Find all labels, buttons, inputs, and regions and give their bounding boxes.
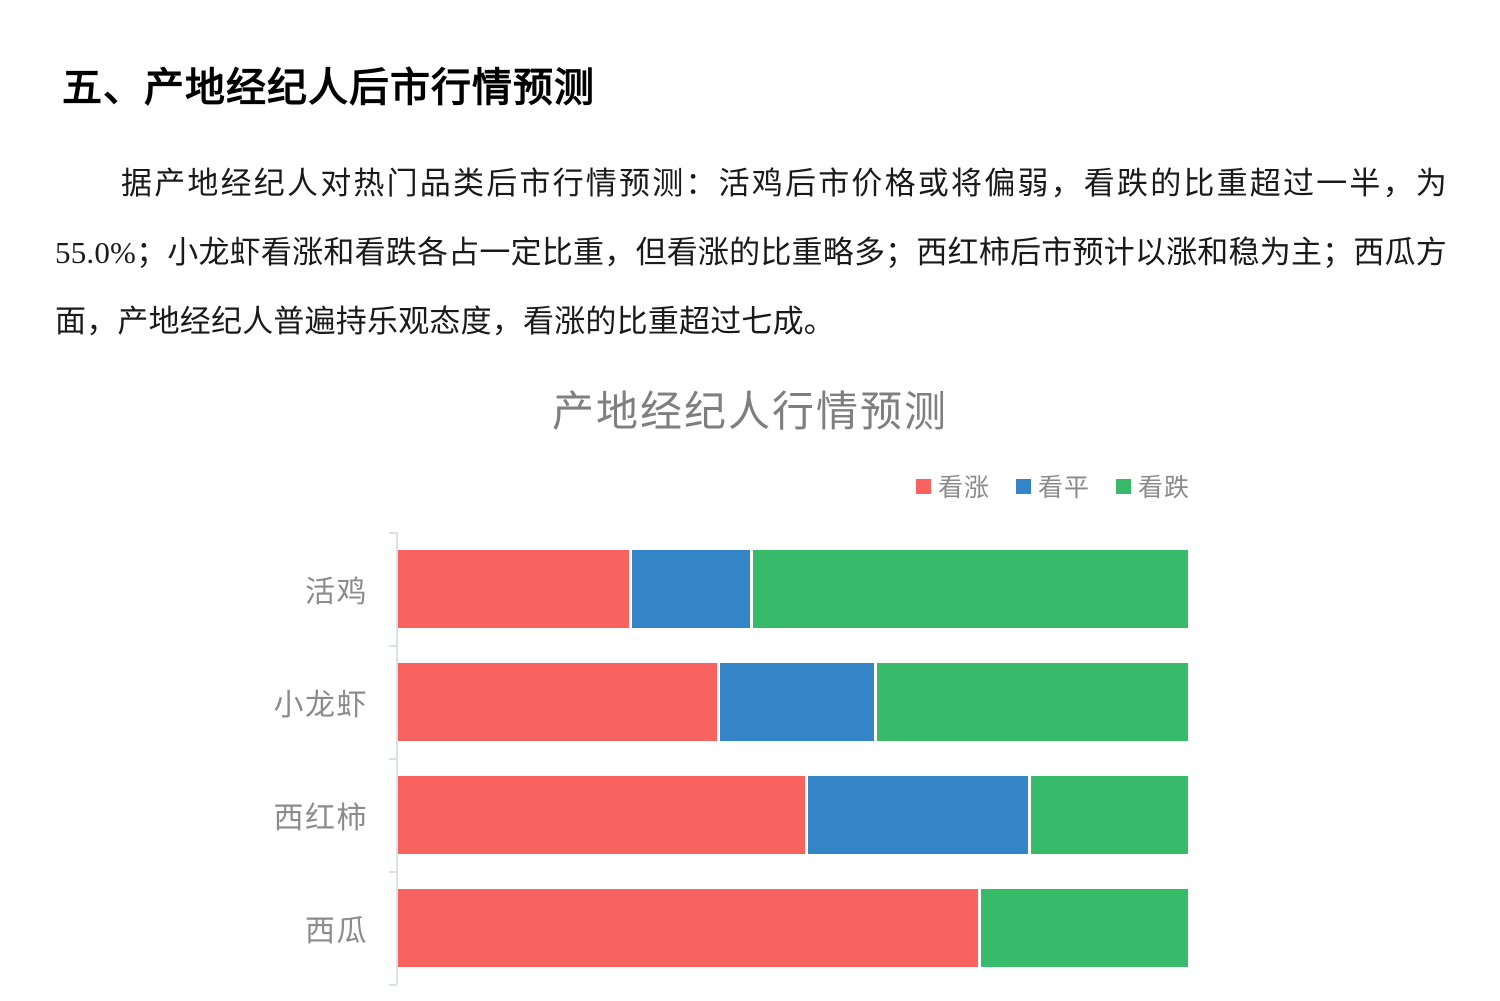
bar-segment-flat[interactable] [632, 550, 754, 628]
legend-swatch-bearish [1116, 479, 1131, 494]
bar-row: 西红柿 [398, 776, 1188, 854]
legend-item-flat[interactable]: 看平 [1016, 468, 1090, 504]
axis-tick [389, 984, 397, 986]
bar-segment-bearish[interactable] [753, 550, 1188, 628]
chart-title: 产地经纪人行情预测 [0, 378, 1500, 439]
legend-swatch-bullish [916, 479, 931, 494]
document-page: 五、产地经纪人后市行情预测 据产地经纪人对热门品类后市行情预测：活鸡后市价格或将… [0, 0, 1500, 1001]
bar-segment-bullish[interactable] [398, 550, 632, 628]
axis-tick [389, 871, 397, 873]
category-label: 西瓜 [305, 906, 368, 950]
legend-label-flat: 看平 [1038, 468, 1090, 504]
category-label: 西红柿 [274, 793, 369, 837]
bar-segment-flat[interactable] [808, 776, 1031, 854]
category-label: 小龙虾 [274, 680, 369, 724]
legend-label-bearish: 看跌 [1138, 468, 1190, 504]
legend-swatch-flat [1016, 479, 1031, 494]
bar-row: 小龙虾 [398, 663, 1188, 741]
bar-segment-bullish[interactable] [398, 889, 981, 967]
bar-segment-flat[interactable] [720, 663, 876, 741]
plot-area: 活鸡小龙虾西红柿西瓜 [396, 532, 1188, 984]
axis-tick [389, 532, 397, 534]
legend-item-bullish[interactable]: 看涨 [916, 468, 990, 504]
axis-tick [389, 758, 397, 760]
legend-item-bearish[interactable]: 看跌 [1116, 468, 1190, 504]
bar-row: 活鸡 [398, 550, 1188, 628]
body-paragraph: 据产地经纪人对热门品类后市行情预测：活鸡后市价格或将偏弱，看跌的比重超过一半，为… [55, 149, 1447, 356]
bar-segment-bearish[interactable] [877, 663, 1188, 741]
bar-row: 西瓜 [398, 889, 1188, 967]
bar-segment-bearish[interactable] [1031, 776, 1188, 854]
stacked-bar-chart: 产地经纪人行情预测 看涨 看平 看跌 活鸡小龙虾西红柿西瓜 [0, 360, 1500, 1001]
axis-tick [389, 645, 397, 647]
legend-label-bullish: 看涨 [938, 468, 990, 504]
page-title: 五、产地经纪人后市行情预测 [62, 55, 595, 113]
category-label: 活鸡 [305, 567, 368, 611]
bar-segment-bullish[interactable] [398, 663, 720, 741]
bar-segment-bullish[interactable] [398, 776, 808, 854]
bar-segment-bearish[interactable] [981, 889, 1188, 967]
chart-legend: 看涨 看平 看跌 [916, 468, 1190, 504]
